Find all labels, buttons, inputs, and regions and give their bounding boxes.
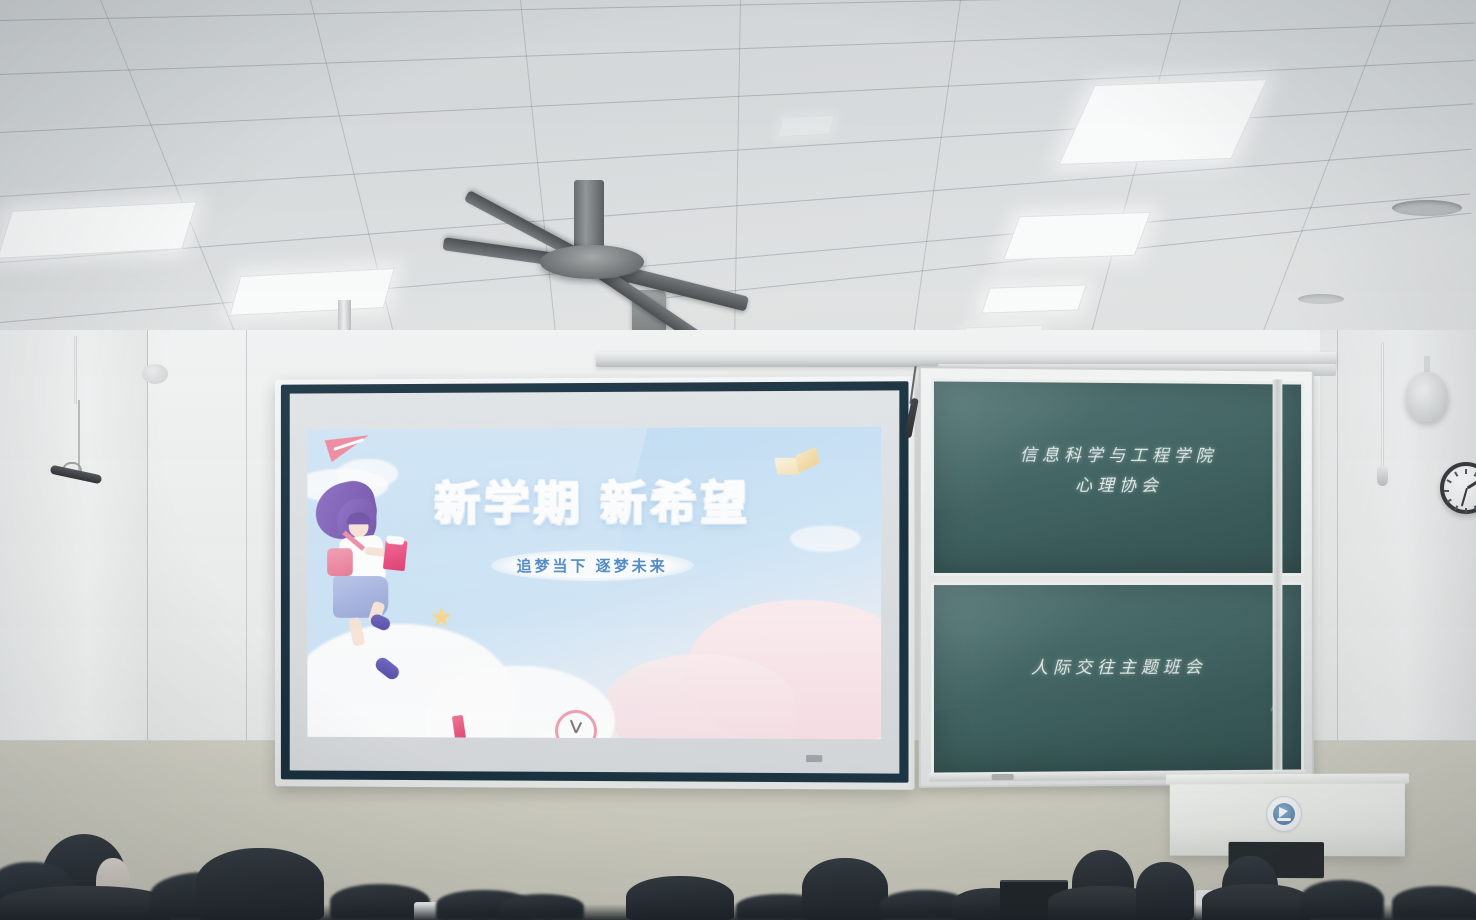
ceiling-light-panel bbox=[229, 268, 394, 316]
ceiling-light-panel bbox=[777, 115, 834, 138]
projection-screen[interactable]: ★ bbox=[275, 376, 915, 790]
clock-hour-hand bbox=[1467, 480, 1476, 489]
slide-content: ★ bbox=[307, 427, 881, 739]
hanging-cord-right bbox=[1381, 342, 1384, 470]
screen-brand-logo bbox=[806, 755, 822, 762]
blackboard-unit[interactable]: 信息科学与工程学院 心理协会 人际交往主题班会 bbox=[919, 366, 1314, 788]
podium-surface bbox=[1166, 773, 1409, 784]
hanging-cord bbox=[74, 336, 77, 404]
chalk-text-line: 人际交往主题班会 bbox=[934, 652, 1301, 678]
slide-subtitle-badge: 追梦当下 逐梦未来 bbox=[491, 550, 694, 581]
girl-leg bbox=[348, 617, 365, 647]
fan-rod bbox=[574, 180, 604, 250]
chalk-tray-clip bbox=[992, 774, 1014, 780]
blackboard-panel-bottom[interactable]: 人际交往主题班会 bbox=[931, 582, 1304, 776]
wall-speaker-left bbox=[142, 364, 168, 384]
slide-title: 新学期 新希望 bbox=[307, 479, 881, 526]
chalk-text-line: 信息科学与工程学院 bbox=[934, 440, 1301, 467]
ceiling-vent bbox=[1298, 294, 1344, 304]
wall-right-panel bbox=[1320, 330, 1476, 750]
slide-subtitle: 追梦当下 逐梦未来 bbox=[517, 555, 668, 576]
screen-surface[interactable]: ★ bbox=[290, 390, 900, 773]
blackboard-slide-rail[interactable] bbox=[1273, 379, 1283, 772]
blackboard-panel-top[interactable]: 信息科学与工程学院 心理协会 bbox=[931, 378, 1304, 576]
chalk-text-line: 心理协会 bbox=[934, 470, 1301, 497]
girl-shoe bbox=[373, 655, 402, 682]
audience-shadow bbox=[0, 904, 1476, 920]
wall-seam-line bbox=[246, 330, 247, 748]
wall-seam-line bbox=[1337, 330, 1338, 750]
ceiling-vent bbox=[1392, 200, 1462, 216]
girl-shoe bbox=[369, 612, 392, 632]
ceiling-light-panel bbox=[1059, 79, 1268, 165]
flying-book-icon bbox=[774, 449, 822, 480]
blackboard-glare bbox=[931, 582, 1165, 715]
ceiling-light-panel bbox=[1003, 212, 1151, 261]
ceiling-light-panel bbox=[981, 284, 1087, 313]
audience-row bbox=[0, 790, 1476, 920]
cloud-shape bbox=[790, 526, 861, 552]
cord-end-cap bbox=[1377, 466, 1388, 486]
girl-bag bbox=[327, 548, 353, 576]
fan-hub bbox=[540, 245, 644, 279]
classroom-scene: EPSON bbox=[0, 0, 1476, 920]
clock-minute-hand bbox=[1461, 488, 1468, 507]
wall-speaker-right bbox=[1406, 372, 1448, 422]
girl-book-pages bbox=[386, 535, 405, 545]
